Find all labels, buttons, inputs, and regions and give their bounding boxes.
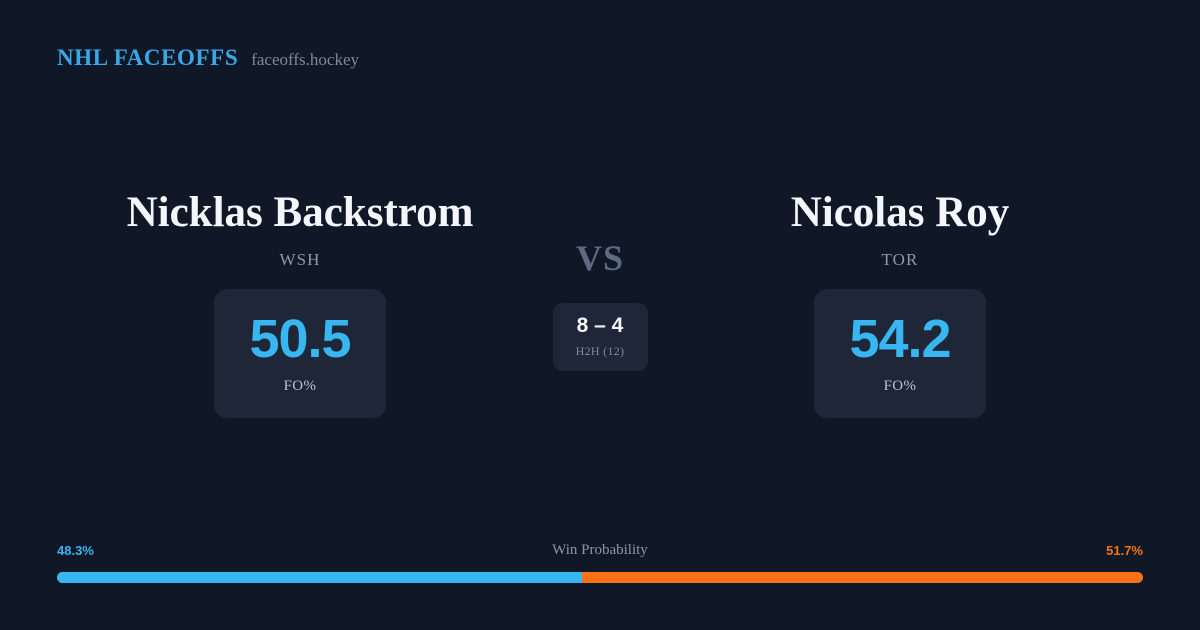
player-name-right: Nicolas Roy: [791, 190, 1010, 235]
win-probability-section: 48.3% Win Probability 51.7%: [57, 540, 1143, 583]
head-to-head-card: 8 – 4 H2H (12): [553, 303, 648, 371]
team-abbr-left: WSH: [279, 250, 320, 270]
faceoff-pct-value-left: 50.5: [249, 312, 350, 366]
team-abbr-right: TOR: [882, 250, 919, 270]
versus-label: VS: [576, 240, 624, 276]
win-probability-bar-left-fill: [57, 572, 582, 583]
faceoff-pct-value-right: 54.2: [849, 312, 950, 366]
player-card-left: Nicklas Backstrom WSH 50.5 FO%: [60, 190, 540, 418]
versus-column: VS 8 – 4 H2H (12): [540, 190, 660, 371]
win-probability-bar: [57, 572, 1143, 583]
faceoff-pct-label-right: FO%: [884, 378, 917, 395]
player-name-left: Nicklas Backstrom: [127, 190, 474, 235]
head-to-head-record: 8 – 4: [577, 315, 624, 336]
brand-title: NHL FACEOFFS: [57, 45, 238, 71]
win-probability-labels: 48.3% Win Probability 51.7%: [57, 540, 1143, 560]
page-header: NHL FACEOFFS faceoffs.hockey: [57, 45, 359, 71]
head-to-head-label: H2H (12): [576, 344, 625, 359]
faceoff-stat-card-right: 54.2 FO%: [814, 289, 986, 418]
site-domain: faceoffs.hockey: [251, 50, 359, 70]
player-card-right: Nicolas Roy TOR 54.2 FO%: [660, 190, 1140, 418]
faceoff-stat-card-left: 50.5 FO%: [214, 289, 386, 418]
faceoff-pct-label-left: FO%: [284, 378, 317, 395]
win-probability-title: Win Probability: [57, 542, 1143, 559]
matchup-section: Nicklas Backstrom WSH 50.5 FO% VS 8 – 4 …: [0, 190, 1200, 418]
